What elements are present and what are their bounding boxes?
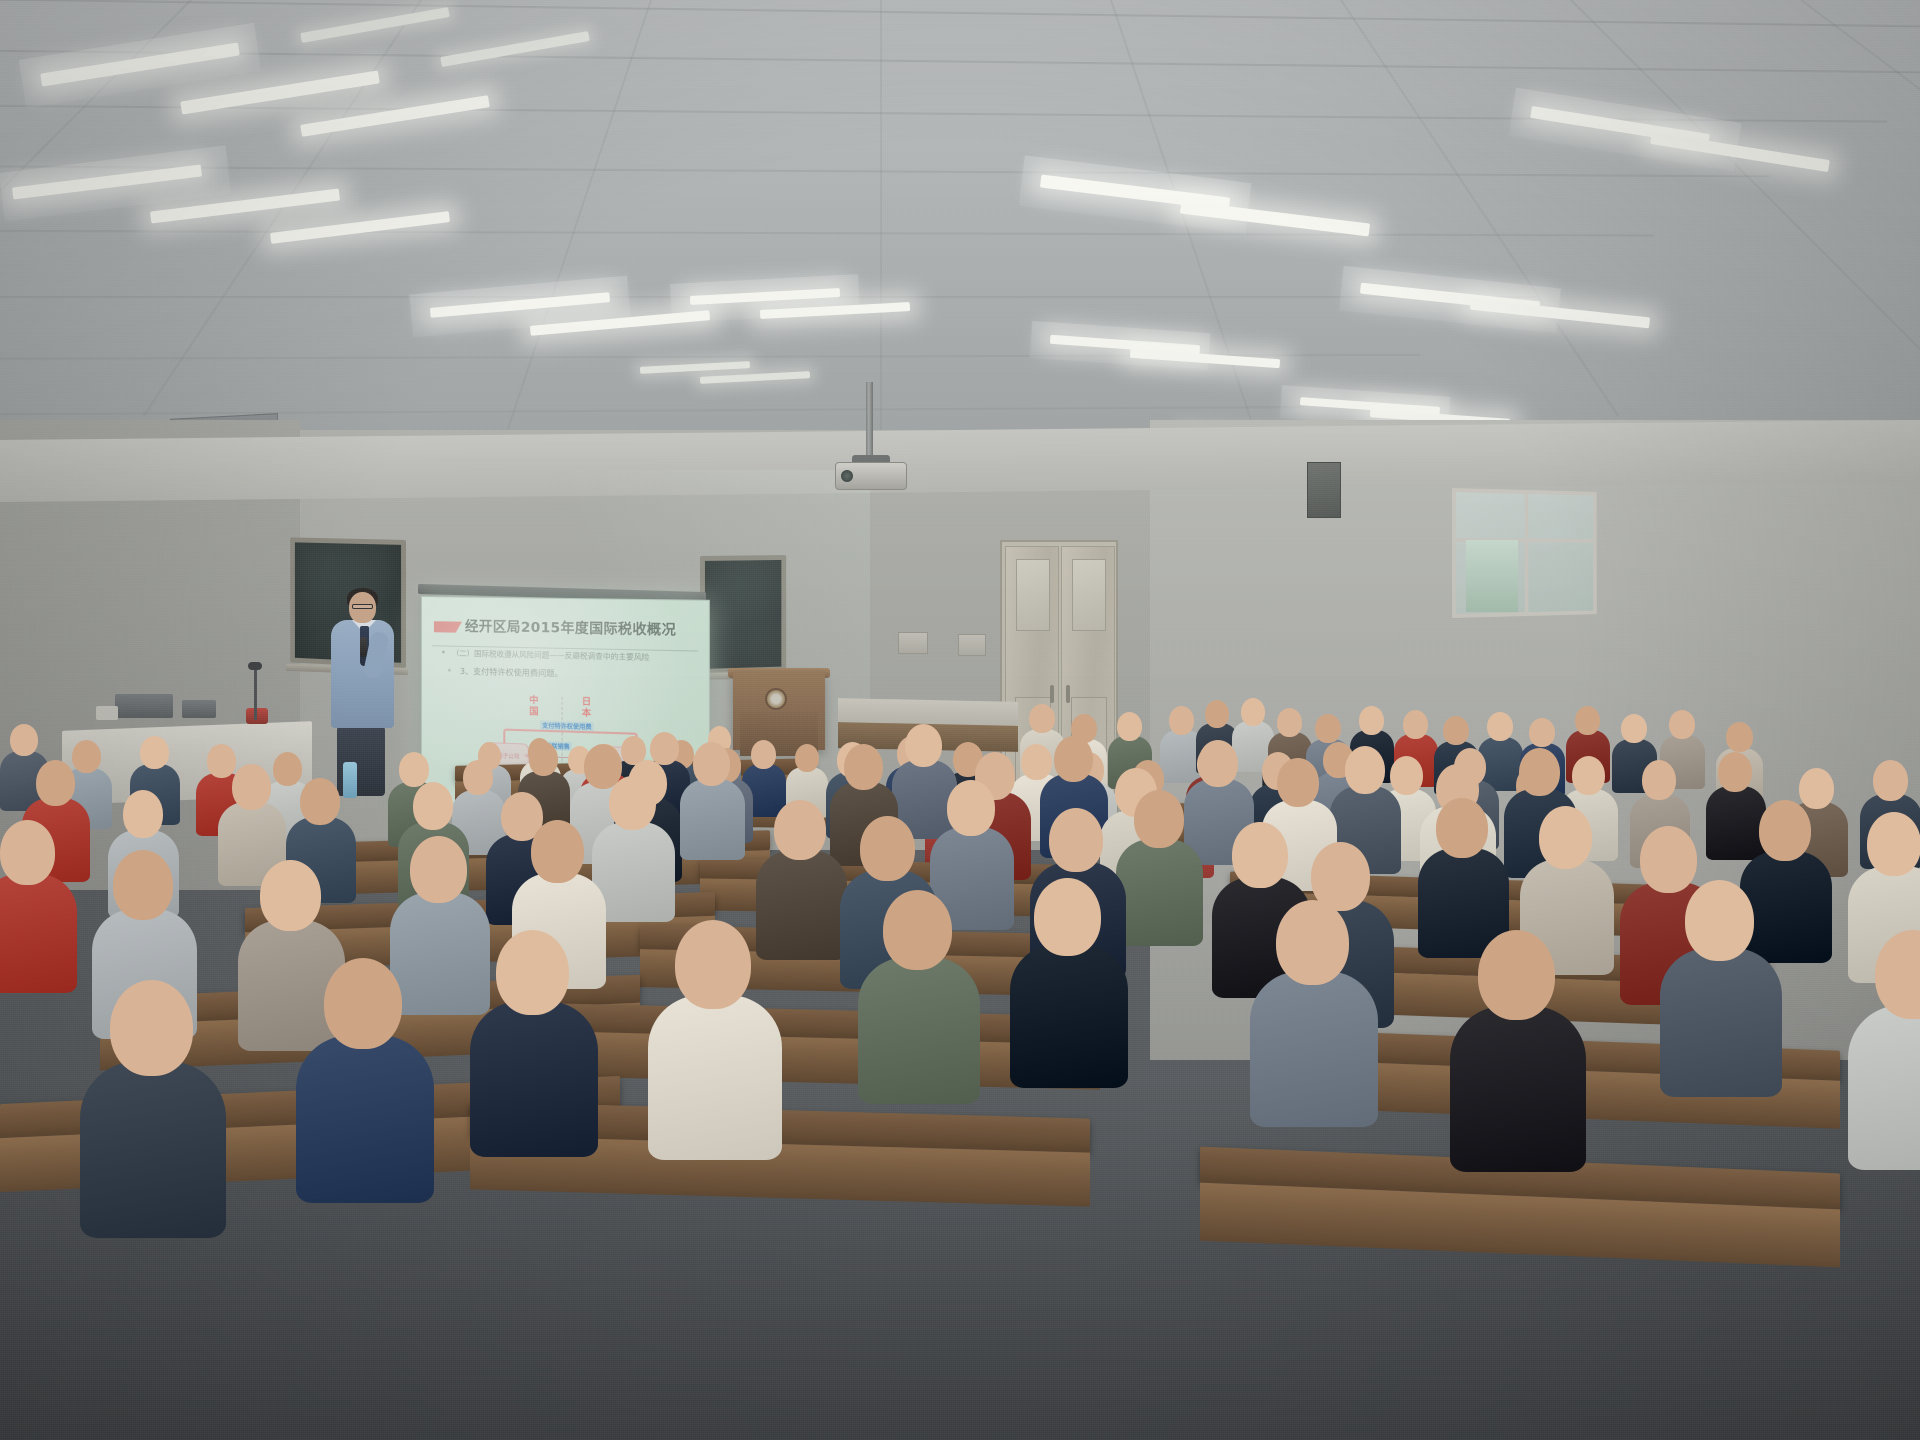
person-torso	[470, 1001, 598, 1157]
lectern-emblem	[765, 688, 787, 710]
ceiling-tile-line	[492, 0, 652, 475]
person-head	[1621, 714, 1647, 743]
wall-speaker	[1307, 462, 1341, 518]
person-head	[324, 958, 402, 1049]
person-torso	[1660, 948, 1782, 1097]
ceiling-tile-line	[0, 406, 1304, 416]
person-head	[1575, 706, 1600, 735]
wall-outlet-panel	[958, 634, 986, 656]
diagram-label-royalty: 支付特许权使用费	[540, 721, 594, 732]
person-head	[113, 850, 173, 920]
audience-person	[296, 958, 441, 1188]
ceiling-tile-line	[1110, 0, 1270, 475]
door-window	[1072, 559, 1106, 631]
person-head	[110, 980, 193, 1076]
person-head	[1241, 698, 1265, 726]
audience-person	[1418, 798, 1513, 949]
person-head	[1277, 758, 1319, 807]
wall-outlet-panel	[898, 632, 928, 654]
person-head	[1685, 880, 1754, 961]
person-head	[1875, 930, 1920, 1019]
person-head	[1134, 790, 1184, 848]
audience-person	[680, 742, 748, 852]
slide-title: 经开区局2015年度国际税收概况	[465, 615, 676, 639]
person-torso	[1010, 944, 1128, 1088]
handheld-microphone	[360, 637, 367, 657]
person-head	[693, 742, 730, 786]
audience-person	[0, 820, 82, 983]
person-head	[675, 920, 751, 1009]
person-torso	[1250, 971, 1378, 1127]
person-torso	[1848, 1005, 1920, 1170]
bullet-marker	[448, 669, 451, 672]
person-torso	[680, 779, 745, 860]
person-head	[1487, 712, 1513, 741]
person-torso	[80, 1061, 226, 1238]
person-torso	[0, 874, 77, 993]
ceiling-tile-line	[1800, 0, 1920, 301]
person-head	[36, 760, 75, 806]
audience-person	[858, 890, 986, 1092]
audience-person	[1010, 878, 1134, 1075]
person-head	[1205, 700, 1229, 728]
person-head	[609, 776, 656, 830]
microphone-head	[248, 662, 262, 670]
door-handle[interactable]	[1050, 685, 1054, 703]
person-head	[1539, 806, 1592, 869]
document-camera[interactable]	[96, 706, 118, 720]
person-head	[10, 724, 38, 756]
person-head	[795, 744, 819, 772]
projector-lens	[841, 470, 853, 482]
red-object	[246, 708, 268, 724]
ceiling-tile-line	[0, 165, 1770, 178]
ceiling-tile-line	[0, 0, 1920, 30]
person-head	[1198, 740, 1238, 787]
person-head	[1277, 708, 1302, 737]
person-torso	[1450, 1006, 1586, 1172]
person-head	[1029, 704, 1055, 733]
audience-person	[648, 920, 789, 1146]
audience-person	[80, 980, 233, 1222]
person-head	[774, 800, 826, 860]
person-head	[1669, 710, 1695, 739]
person-head	[1117, 712, 1142, 741]
person-head	[496, 930, 569, 1015]
door-window	[1016, 559, 1050, 631]
person-head	[232, 764, 271, 810]
diagram-label-china: 中国	[527, 696, 541, 719]
audience-person	[1848, 930, 1920, 1156]
person-head	[1642, 760, 1676, 800]
audience-person	[1450, 930, 1593, 1158]
person-head	[947, 780, 995, 836]
person-head	[1034, 878, 1101, 956]
person-head	[1529, 718, 1555, 747]
person-head	[905, 724, 942, 767]
person-head	[1049, 808, 1103, 872]
person-head	[0, 820, 55, 885]
person-head	[1232, 822, 1288, 888]
person-head	[1478, 930, 1555, 1020]
person-torso	[648, 995, 782, 1160]
person-head	[1519, 748, 1560, 796]
av-control-unit[interactable]	[115, 694, 173, 718]
audience-person	[1660, 880, 1788, 1084]
slide-bullet-2: 3、支付特许权使用费问题。	[460, 666, 563, 680]
person-head	[1443, 716, 1469, 745]
microphone-stand	[254, 668, 257, 720]
av-control-unit[interactable]	[182, 700, 216, 718]
person-head	[413, 782, 453, 830]
slide-accent-shape	[434, 621, 462, 633]
bullet-marker	[442, 650, 445, 653]
person-head	[1436, 798, 1488, 858]
person-head	[1718, 752, 1752, 792]
person-head	[844, 744, 883, 790]
person-head	[531, 820, 584, 883]
person-head	[260, 860, 321, 931]
person-head	[123, 790, 163, 838]
person-head	[410, 836, 467, 903]
slide-title-bar: 经开区局2015年度国际税收概况	[422, 617, 709, 644]
window-view	[1466, 540, 1518, 612]
projector-pole	[866, 382, 873, 464]
person-head	[1169, 706, 1194, 735]
diagram-label-japan: 日本	[579, 697, 594, 720]
blackboard-right	[700, 555, 786, 674]
ceiling-tile-line	[880, 0, 882, 500]
person-head	[1867, 812, 1920, 876]
ceiling-tile-line	[0, 229, 1654, 236]
lecture-hall-scene: 经开区局2015年度国际税收概况 （二）国际税收遵从风险问题——反避税调查中的主…	[0, 0, 1920, 1440]
person-head	[860, 816, 915, 881]
person-torso	[296, 1035, 434, 1203]
door-handle[interactable]	[1066, 685, 1070, 703]
person-head	[1315, 714, 1341, 743]
person-head	[1345, 746, 1385, 794]
person-head	[1759, 800, 1811, 861]
person-head	[883, 890, 952, 970]
person-head	[1873, 760, 1908, 801]
audience-person	[1250, 900, 1384, 1114]
person-head	[140, 736, 169, 769]
person-head	[300, 778, 340, 825]
glasses-icon	[352, 604, 373, 609]
person-head	[1276, 900, 1349, 985]
person-head	[1054, 736, 1093, 782]
person-head	[1359, 706, 1384, 735]
audience-person	[470, 930, 604, 1144]
person-head	[529, 742, 558, 776]
person-head	[1726, 722, 1753, 752]
person-head	[1403, 710, 1428, 739]
person-torso	[858, 957, 980, 1104]
